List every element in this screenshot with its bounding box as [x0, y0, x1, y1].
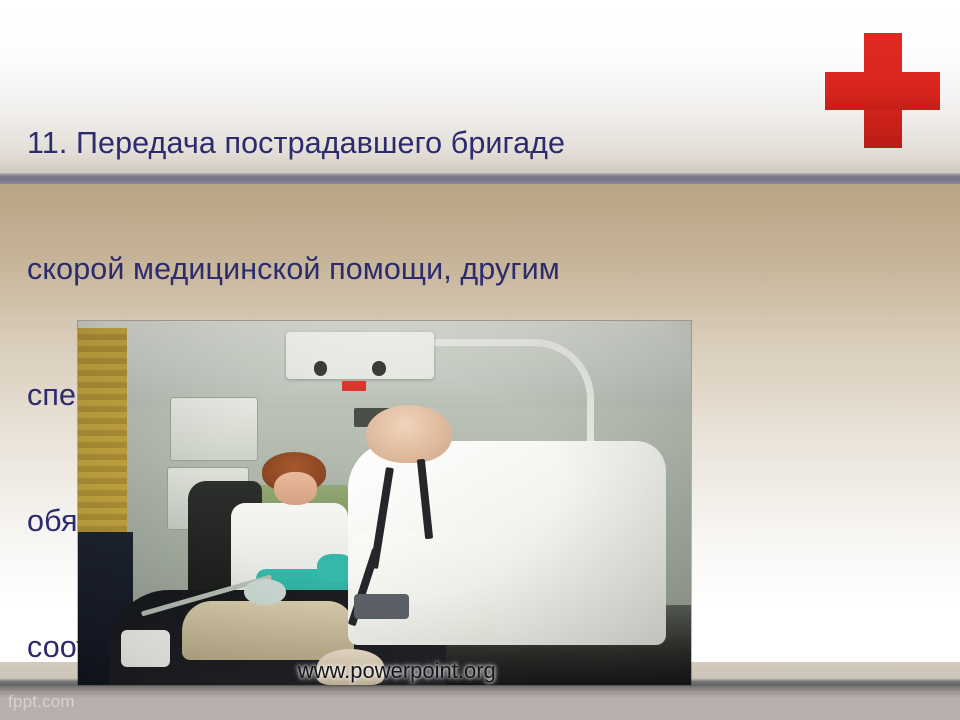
- photo-scene: [78, 321, 691, 685]
- photo-vignette: [78, 321, 691, 685]
- red-cross-horizontal-bar: [825, 72, 940, 110]
- title-line-2: скорой медицинской помощи, другим: [27, 248, 817, 290]
- presentation-slide: 11. Передача пострадавшего бригаде скоро…: [0, 0, 960, 720]
- red-cross-icon: [825, 33, 940, 148]
- ambulance-photo: www.powerpoint.org: [78, 321, 691, 685]
- title-line-1: 11. Передача пострадавшего бригаде: [27, 122, 817, 164]
- footer-watermark: fppt.com: [8, 692, 75, 712]
- photo-watermark: www.powerpoint.org: [298, 658, 496, 684]
